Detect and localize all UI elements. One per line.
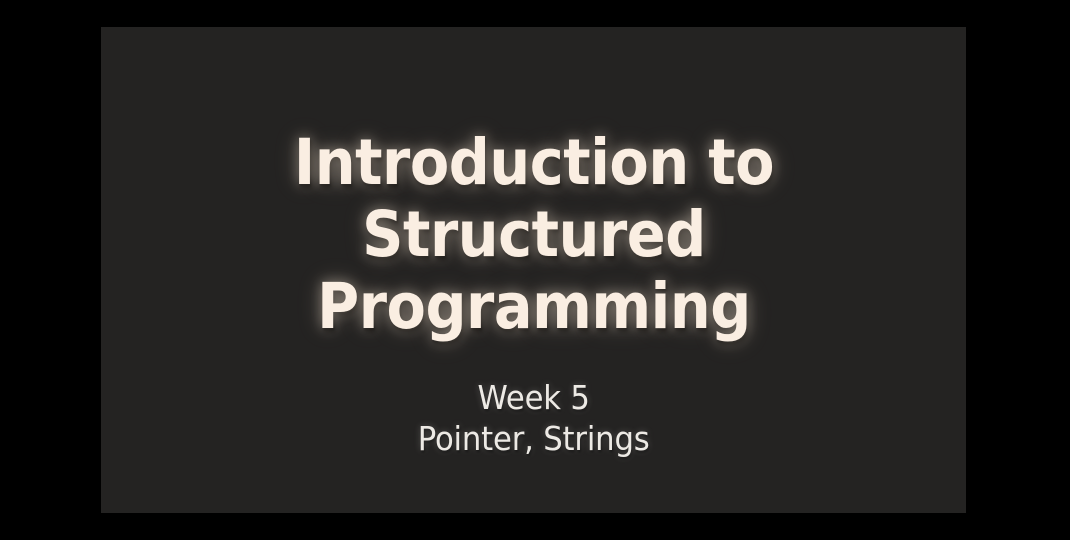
slide-content: Introduction to Structured Programming W… xyxy=(101,127,966,459)
letterbox-bottom xyxy=(0,513,1070,540)
presentation-slide: Introduction to Structured Programming W… xyxy=(101,27,966,513)
letterbox-left xyxy=(0,0,101,540)
letterbox-top xyxy=(0,0,1070,27)
slide-title: Introduction to Structured Programming xyxy=(170,127,898,343)
video-frame: Introduction to Structured Programming W… xyxy=(0,0,1070,540)
slide-subtitle: Week 5 Pointer, Strings xyxy=(418,377,650,459)
letterbox-right xyxy=(966,0,1070,540)
slide-subtitle-line-topics: Pointer, Strings xyxy=(418,418,650,459)
slide-subtitle-line-week: Week 5 xyxy=(418,377,650,418)
